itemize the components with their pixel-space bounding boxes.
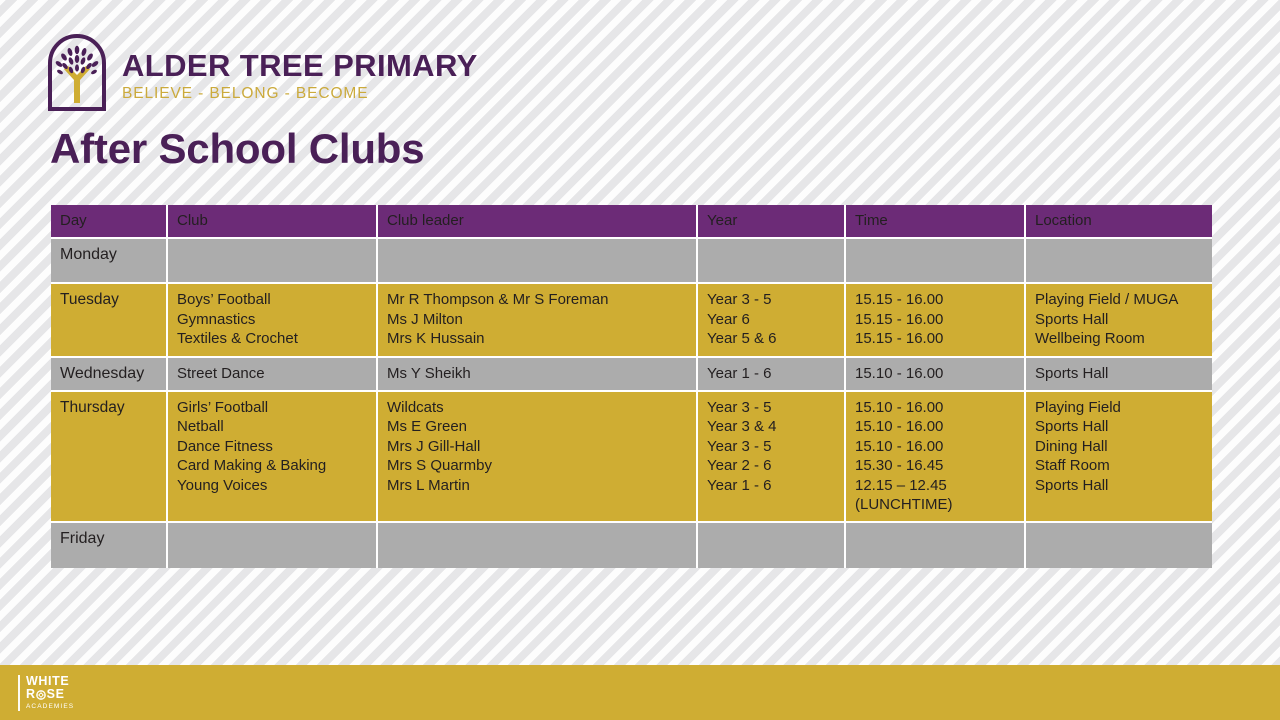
cell-club	[168, 239, 378, 284]
cell-year	[698, 239, 846, 284]
cell-leader	[378, 523, 698, 568]
column-header-club: Club	[168, 205, 378, 239]
cell-day: Thursday	[51, 392, 168, 523]
cell-location: Playing Field / MUGASports HallWellbeing…	[1026, 284, 1212, 357]
brand-text-block: ALDER TREE PRIMARY BELIEVE - BELONG - BE…	[122, 44, 478, 103]
table-body: Monday Tuesday Boys’ FootballGymnasticsT…	[51, 239, 1212, 568]
footer-line-rose: R SE	[26, 688, 74, 701]
slide-canvas: ALDER TREE PRIMARY BELIEVE - BELONG - BE…	[0, 0, 1280, 720]
table-row: Friday	[51, 523, 1212, 568]
footer-rose-suffix: SE	[47, 688, 65, 701]
cell-day: Monday	[51, 239, 168, 284]
after-school-clubs-table: Day Club Club leader Year Time Location …	[51, 205, 1212, 568]
cell-year	[698, 523, 846, 568]
cell-time	[846, 523, 1026, 568]
column-header-year: Year	[698, 205, 846, 239]
cell-leader: Ms Y Sheikh	[378, 358, 698, 392]
cell-club	[168, 523, 378, 568]
logo-divider-rule	[18, 675, 20, 711]
cell-time: 15.15 - 16.0015.15 - 16.0015.15 - 16.00	[846, 284, 1026, 357]
cell-year: Year 1 - 6	[698, 358, 846, 392]
column-header-time: Time	[846, 205, 1026, 239]
column-header-leader: Club leader	[378, 205, 698, 239]
column-header-location: Location	[1026, 205, 1212, 239]
cell-day: Tuesday	[51, 284, 168, 357]
white-rose-academies-logo: WHITE R SE ACADEMIES	[18, 675, 74, 711]
footer-logo-text: WHITE R SE ACADEMIES	[26, 675, 74, 711]
table-header-row: Day Club Club leader Year Time Location	[51, 205, 1212, 239]
cell-day: Wednesday	[51, 358, 168, 392]
table-row: Monday	[51, 239, 1212, 284]
cell-time: 15.10 - 16.0015.10 - 16.0015.10 - 16.001…	[846, 392, 1026, 523]
rose-icon	[36, 690, 46, 700]
cell-location: Playing FieldSports HallDining HallStaff…	[1026, 392, 1212, 523]
cell-year: Year 3 - 5Year 6Year 5 & 6	[698, 284, 846, 357]
footer-rose-prefix: R	[26, 688, 36, 701]
cell-club: Street Dance	[168, 358, 378, 392]
table-header: Day Club Club leader Year Time Location	[51, 205, 1212, 239]
cell-time: 15.10 - 16.00	[846, 358, 1026, 392]
footer-bar: WHITE R SE ACADEMIES	[0, 665, 1280, 720]
school-name: ALDER TREE PRIMARY	[122, 50, 478, 82]
footer-line-academies: ACADEMIES	[26, 702, 74, 711]
cell-leader: WildcatsMs E GreenMrs J Gill-HallMrs S Q…	[378, 392, 698, 523]
page-title: After School Clubs	[50, 124, 424, 174]
cell-location	[1026, 239, 1212, 284]
table-row: Thursday Girls’ FootballNetballDance Fit…	[51, 392, 1212, 523]
table-row: Wednesday Street Dance Ms Y Sheikh Year …	[51, 358, 1212, 392]
column-header-day: Day	[51, 205, 168, 239]
cell-club: Girls’ FootballNetballDance FitnessCard …	[168, 392, 378, 523]
cell-day: Friday	[51, 523, 168, 568]
cell-location: Sports Hall	[1026, 358, 1212, 392]
table-row: Tuesday Boys’ FootballGymnasticsTextiles…	[51, 284, 1212, 357]
school-logo: ALDER TREE PRIMARY BELIEVE - BELONG - BE…	[46, 33, 478, 113]
cell-club: Boys’ FootballGymnasticsTextiles & Croch…	[168, 284, 378, 357]
cell-leader: Mr R Thompson & Mr S ForemanMs J MiltonM…	[378, 284, 698, 357]
cell-year: Year 3 - 5Year 3 & 4Year 3 - 5Year 2 - 6…	[698, 392, 846, 523]
arch-tree-icon	[46, 33, 108, 113]
cell-time	[846, 239, 1026, 284]
school-tagline: BELIEVE - BELONG - BECOME	[122, 86, 478, 102]
cell-leader	[378, 239, 698, 284]
cell-location	[1026, 523, 1212, 568]
